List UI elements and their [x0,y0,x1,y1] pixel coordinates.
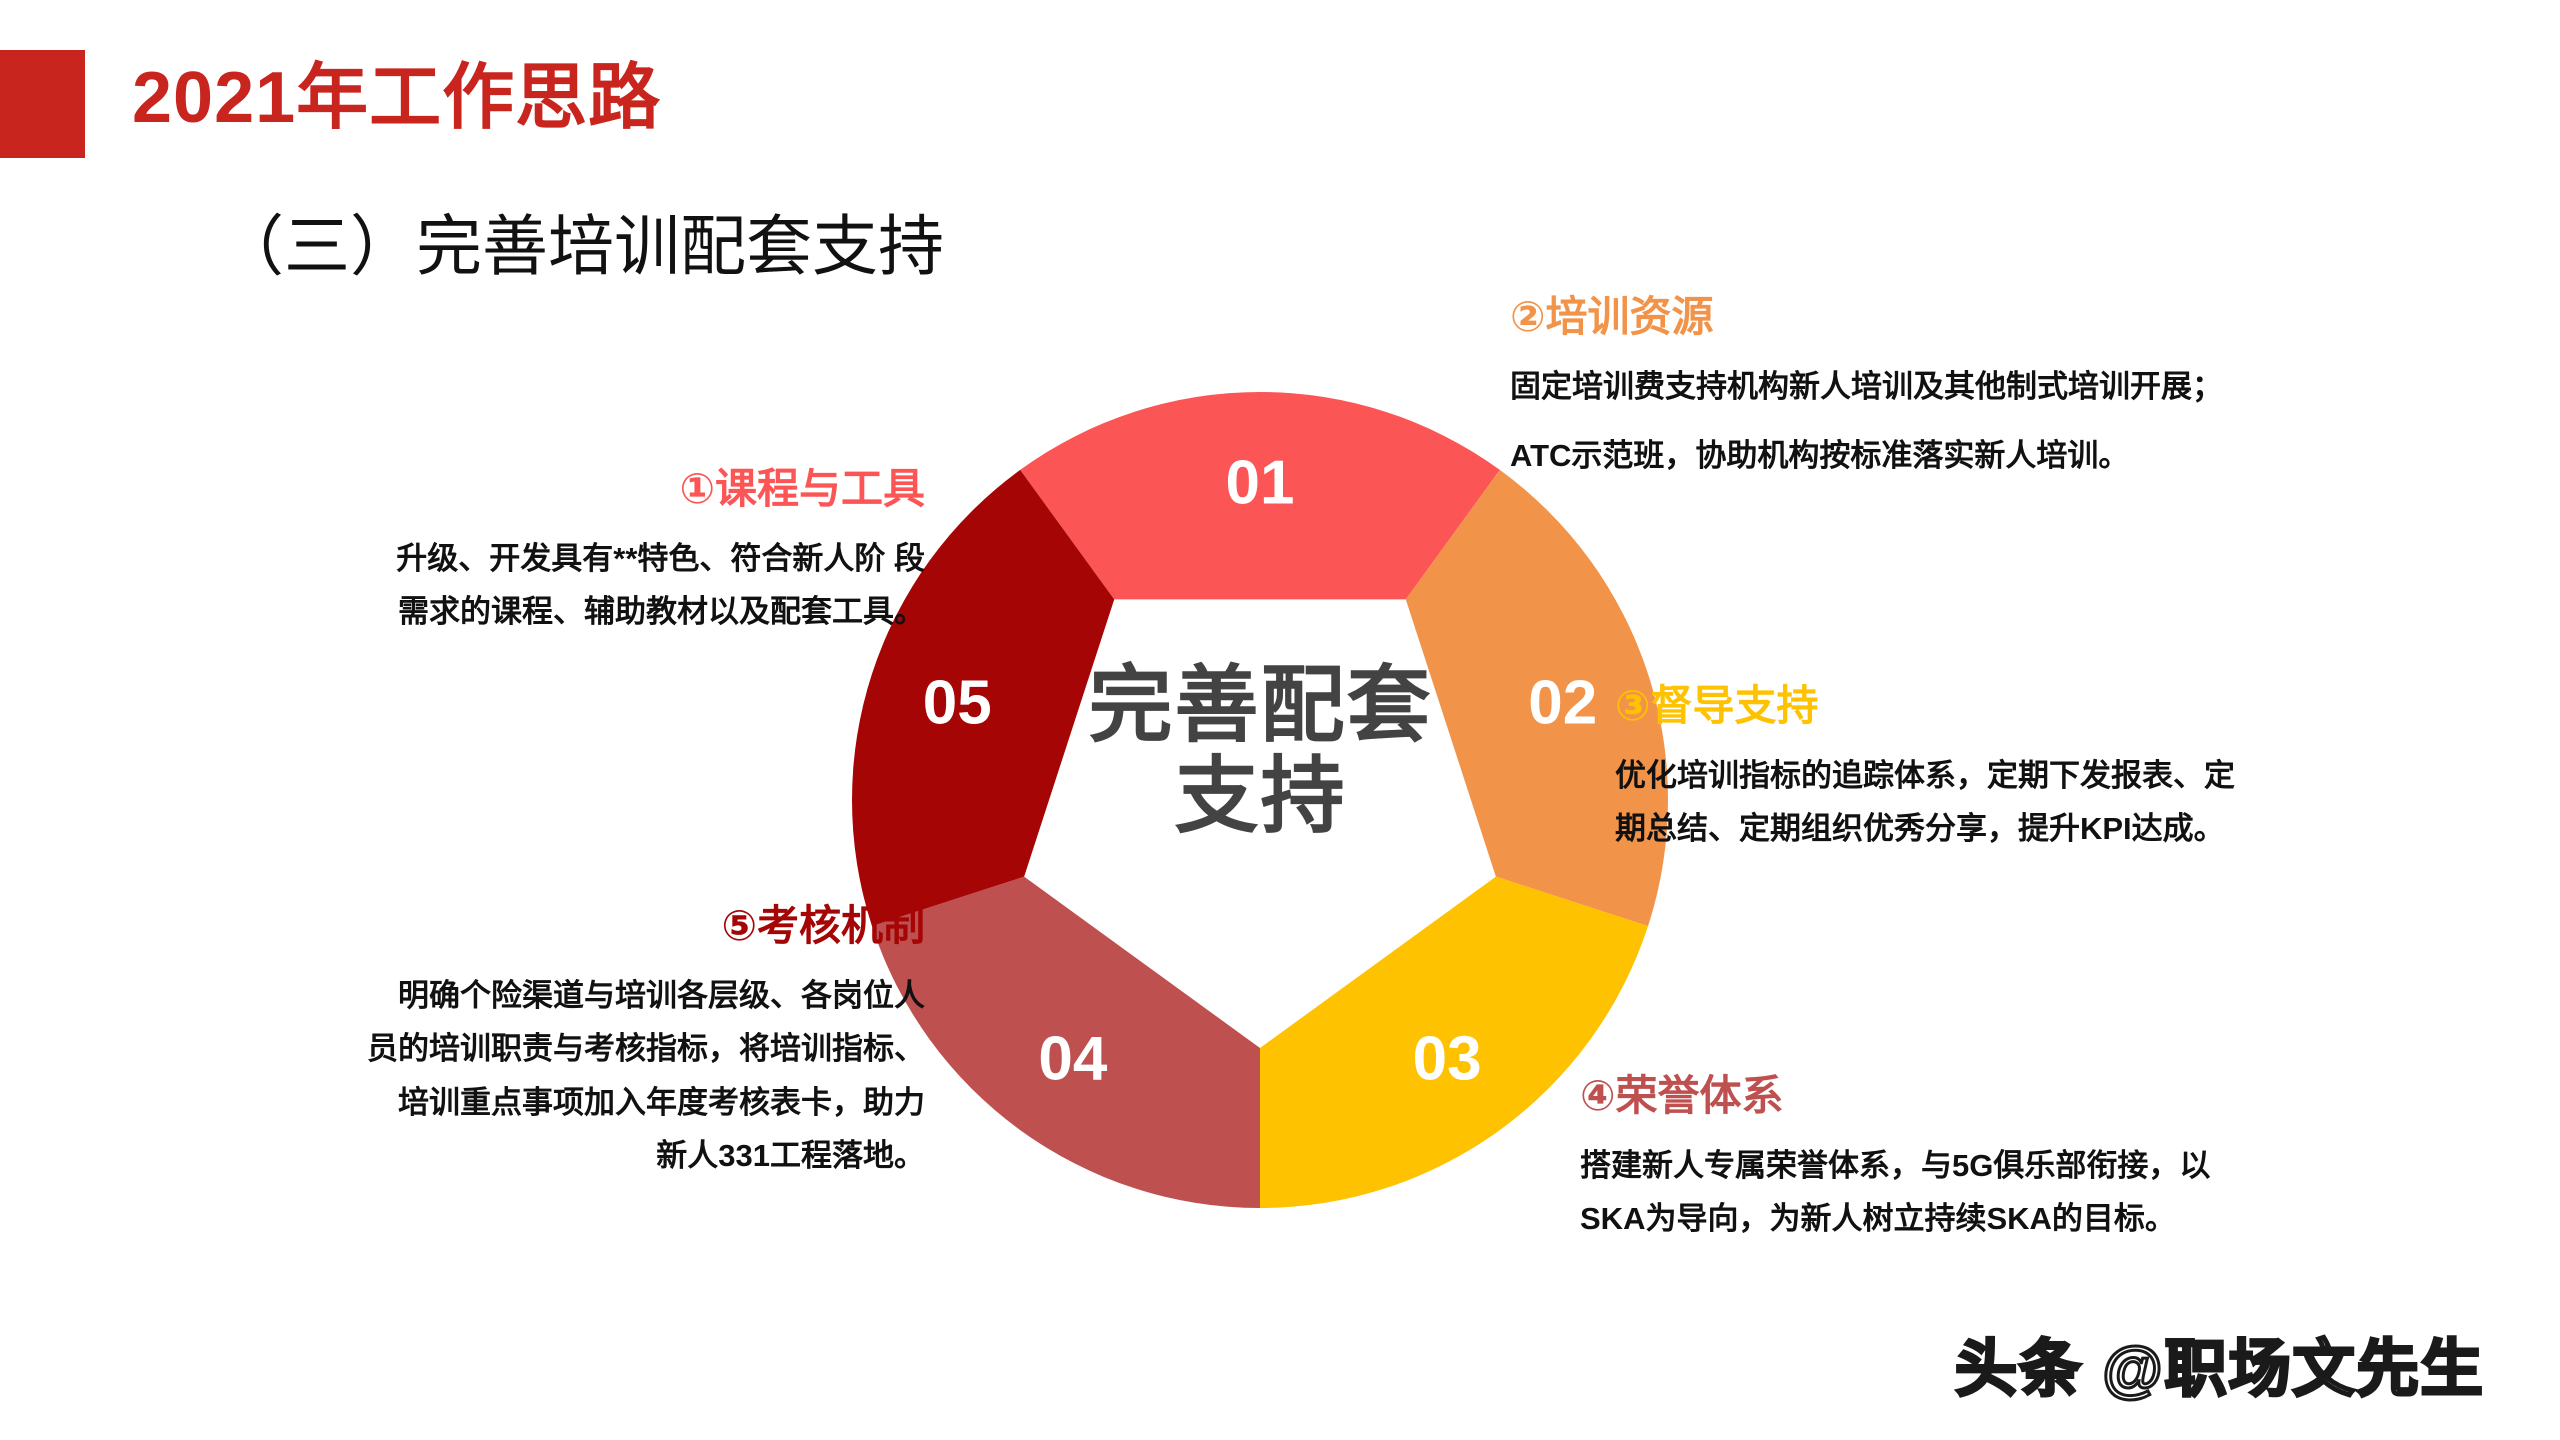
item-4-line-2: SKA为导向，为新人树立持续SKA的目标。 [1580,1192,2540,1245]
item-block-5: ⑤考核机制 明确个险渠道与培训各层级、各岗位人 员的培训职责与考核指标，将培训指… [165,892,925,1182]
item-3-line-1: 优化培训指标的追踪体系，定期下发报表、定 [1615,749,2545,802]
segment-number-02: 02 [1528,669,1597,738]
item-2-heading: ②培训资源 [1510,283,2510,344]
item-block-4: ④荣誉体系 搭建新人专属荣誉体系，与5G俱乐部衔接，以 SKA为导向，为新人树立… [1580,1062,2540,1246]
item-1-heading: ①课程与工具 [165,455,925,516]
item-1-line-2: 需求的课程、辅助教材以及配套工具。 [165,585,925,638]
item-5-line-4: 新人331工程落地。 [165,1129,925,1182]
segment-number-05: 05 [923,669,992,738]
title-accent-square [0,50,85,158]
item-4-body: 搭建新人专属荣誉体系，与5G俱乐部衔接，以 SKA为导向，为新人树立持续SKA的… [1580,1139,2540,1246]
pentagon-ring-diagram: 0102030405 完善配套 支持 [852,392,1668,1208]
item-2-line-1: 固定培训费支持机构新人培训及其他制式培训开展； [1510,360,2510,413]
item-3-heading: ③督导支持 [1615,672,2545,733]
item-4-heading: ④荣誉体系 [1580,1062,2540,1123]
item-block-1: ①课程与工具 升级、开发具有**特色、符合新人阶 段 需求的课程、辅助教材以及配… [165,455,925,639]
segment-number-01: 01 [1226,449,1295,518]
diagram-center-label: 完善配套 支持 [988,660,1533,841]
item-5-line-2: 员的培训职责与考核指标，将培训指标、 [165,1022,925,1075]
item-2-body: 固定培训费支持机构新人培训及其他制式培训开展； ATC示范班，协助机构按标准落实… [1510,360,2510,483]
center-line-1: 完善配套 [988,660,1533,751]
center-line-2: 支持 [988,751,1533,842]
item-4-line-1: 搭建新人专属荣誉体系，与5G俱乐部衔接，以 [1580,1139,2540,1192]
slide-canvas: 2021年工作思路 （三）完善培训配套支持 0102030405 完善配套 支持… [0,0,2560,1440]
item-5-line-3: 培训重点事项加入年度考核表卡，助力 [165,1076,925,1129]
item-2-line-2: ATC示范班，协助机构按标准落实新人培训。 [1510,429,2510,482]
item-1-line-1: 升级、开发具有**特色、符合新人阶 段 [165,532,925,585]
item-5-heading: ⑤考核机制 [165,892,925,953]
item-block-3: ③督导支持 优化培训指标的追踪体系，定期下发报表、定 期总结、定期组织优秀分享，… [1615,672,2545,856]
item-3-body: 优化培训指标的追踪体系，定期下发报表、定 期总结、定期组织优秀分享，提升KPI达… [1615,749,2545,856]
page-subtitle: （三）完善培训配套支持 [218,193,944,289]
item-3-line-2: 期总结、定期组织优秀分享，提升KPI达成。 [1615,802,2545,855]
segment-number-04: 04 [1038,1025,1107,1094]
item-5-body: 明确个险渠道与培训各层级、各岗位人 员的培训职责与考核指标，将培训指标、 培训重… [165,969,925,1182]
watermark: 头条 @职场文先生 [1955,1318,2485,1408]
item-1-body: 升级、开发具有**特色、符合新人阶 段 需求的课程、辅助教材以及配套工具。 [165,532,925,639]
page-title: 2021年工作思路 [132,38,661,143]
item-5-line-1: 明确个险渠道与培训各层级、各岗位人 [165,969,925,1022]
segment-number-03: 03 [1413,1025,1482,1094]
item-block-2: ②培训资源 固定培训费支持机构新人培训及其他制式培训开展； ATC示范班，协助机… [1510,283,2510,499]
